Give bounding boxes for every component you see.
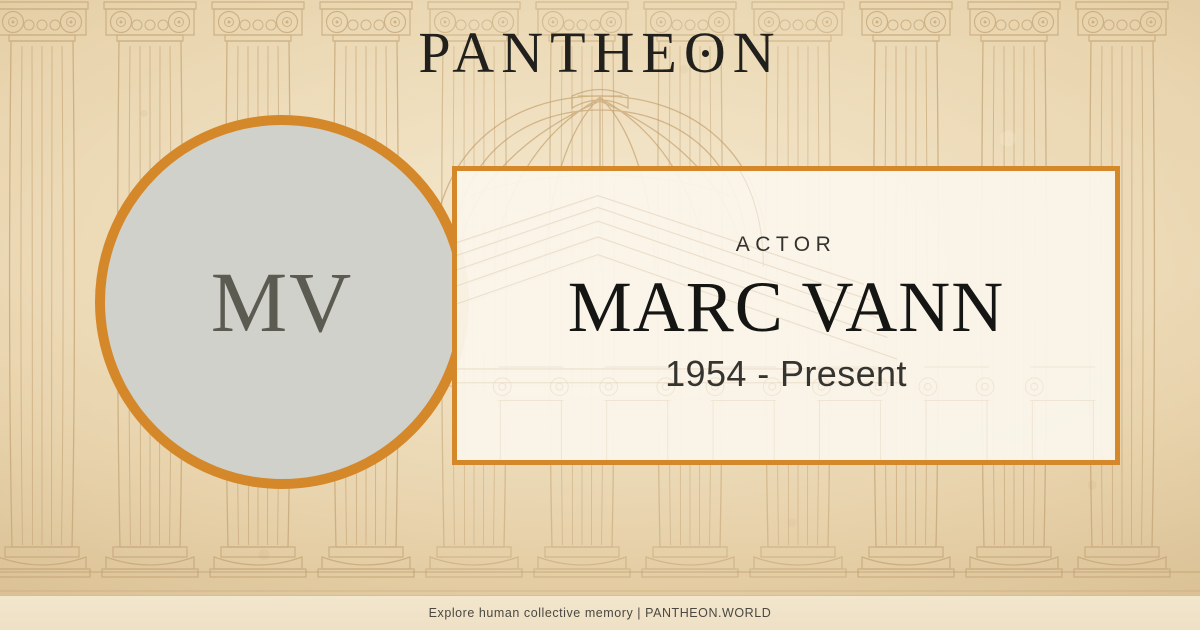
occupation-label: ACTOR <box>736 233 837 257</box>
pantheon-logo[interactable]: PANTHEON <box>0 24 1200 82</box>
avatar[interactable]: MV <box>95 115 469 489</box>
logo-text-after: N <box>733 20 782 85</box>
footer-tagline[interactable]: Explore human collective memory | PANTHE… <box>429 606 772 620</box>
logo-text-before: PANTHE <box>418 20 683 85</box>
lifespan-label: 1954 - Present <box>665 356 907 392</box>
avatar-initials: MV <box>211 259 354 345</box>
person-info-card[interactable]: ACTOR MARC VANN 1954 - Present <box>452 166 1120 465</box>
share-card-canvas: PANTHEON MV <box>0 0 1200 630</box>
footer-bar: Explore human collective memory | PANTHE… <box>0 595 1200 630</box>
person-name: MARC VANN <box>568 271 1004 344</box>
card-content: ACTOR MARC VANN 1954 - Present <box>457 171 1115 460</box>
logo-letter-o-wrap: O <box>684 24 733 82</box>
